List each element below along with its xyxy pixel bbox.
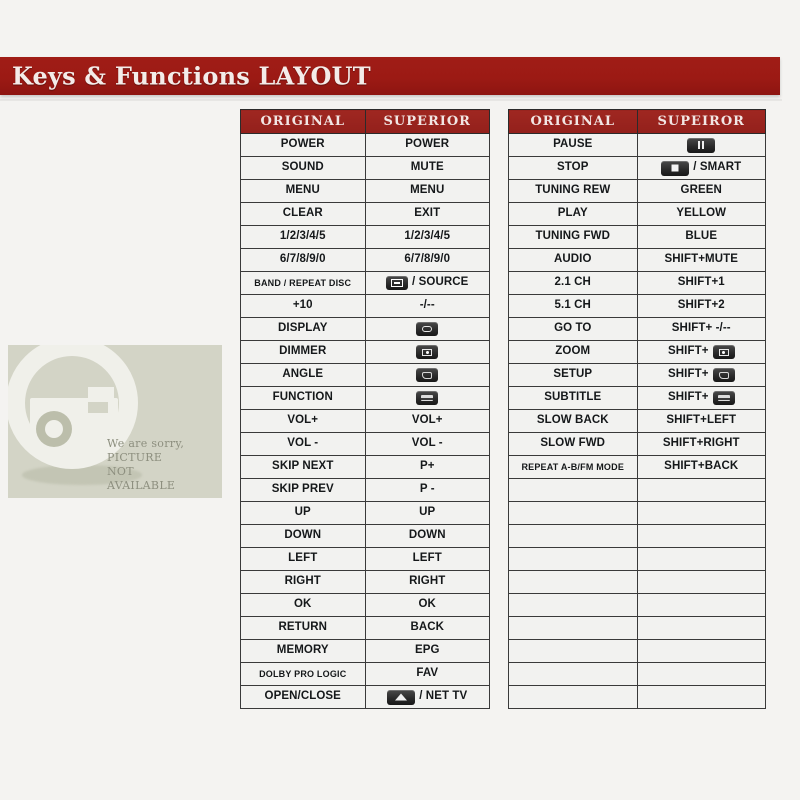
cell-superior-label: / SOURCE [412, 277, 468, 289]
cell-superior: BACK [365, 617, 490, 640]
column-header-original: ORIGINAL [241, 110, 366, 134]
cell-superior: EPG [365, 640, 490, 663]
cell-superior [365, 387, 490, 410]
cell-original-empty [509, 479, 638, 502]
table-row: REPEAT A-B/FM MODESHIFT+BACK [509, 456, 766, 479]
camera-lens-inner-icon [45, 420, 63, 438]
cell-superior-label: / NET TV [419, 691, 467, 703]
cell-content: SHIFT+ [640, 341, 764, 363]
cell-superior: P+ [365, 456, 490, 479]
cell-content: / SMART [640, 157, 764, 179]
cell-superior-label: SHIFT+ [668, 369, 709, 381]
eject-button-icon [387, 690, 415, 705]
cell-superior: VOL - [365, 433, 490, 456]
cell-original: MEMORY [241, 640, 366, 663]
cell-content: / NET TV [368, 686, 488, 708]
cell-content [368, 318, 488, 340]
cell-original: GO TO [509, 318, 638, 341]
cell-original: UP [241, 502, 366, 525]
cell-original: PAUSE [509, 134, 638, 157]
cell-original-empty [509, 502, 638, 525]
cell-superior: SHIFT+ -/-- [637, 318, 766, 341]
table-row [509, 479, 766, 502]
placeholder-line-4: AVAILABLE [107, 479, 217, 493]
table-row: OKOK [241, 594, 490, 617]
cell-superior: SHIFT+1 [637, 272, 766, 295]
dimmer-glyph-icon [719, 349, 729, 356]
cell-superior: MENU [365, 180, 490, 203]
source-button-icon [386, 276, 408, 290]
dimmer-glyph-icon [422, 349, 432, 356]
cell-original-empty [509, 525, 638, 548]
cell-original: ANGLE [241, 364, 366, 387]
cell-original: 6/7/8/9/0 [241, 249, 366, 272]
column-header-superior: SUPEIROR [637, 110, 766, 134]
cell-original: VOL - [241, 433, 366, 456]
page-title: Keys & Functions LAYOUT [12, 62, 371, 91]
cell-content: / SOURCE [368, 272, 488, 294]
table-row: SKIP NEXTP+ [241, 456, 490, 479]
cell-superior: GREEN [637, 180, 766, 203]
table-header-row: ORIGINALSUPERIOR [241, 110, 490, 134]
table-row: DOWNDOWN [241, 525, 490, 548]
cell-superior: SHIFT+2 [637, 295, 766, 318]
table-row: RETURNBACK [241, 617, 490, 640]
cell-superior: MUTE [365, 157, 490, 180]
table-row: MEMORYEPG [241, 640, 490, 663]
cell-superior: SHIFT+MUTE [637, 249, 766, 272]
cell-original: CLEAR [241, 203, 366, 226]
table-row: LEFTLEFT [241, 548, 490, 571]
cell-original: TUNING FWD [509, 226, 638, 249]
table-row: SETUPSHIFT+ [509, 364, 766, 387]
table-row: SUBTITLESHIFT+ [509, 387, 766, 410]
cell-original: +10 [241, 295, 366, 318]
cell-superior-empty [637, 594, 766, 617]
display-button-icon [416, 322, 438, 336]
function-button-icon [416, 391, 438, 405]
table-row: TUNING FWDBLUE [509, 226, 766, 249]
table-row: TUNING REWGREEN [509, 180, 766, 203]
table-row [509, 525, 766, 548]
display-glyph-icon [422, 326, 432, 332]
table-row: BAND / REPEAT DISC/ SOURCE [241, 272, 490, 295]
pause-button-icon [687, 138, 715, 153]
cell-original: OPEN/CLOSE [241, 686, 366, 709]
cell-original: VOL+ [241, 410, 366, 433]
table-row: SKIP PREVP - [241, 479, 490, 502]
cell-original-empty [509, 640, 638, 663]
cell-original: BAND / REPEAT DISC [241, 272, 366, 295]
table-row [509, 548, 766, 571]
cell-original: SUBTITLE [509, 387, 638, 410]
cell-content [368, 387, 488, 409]
cell-superior: -/-- [365, 295, 490, 318]
table-row: DOLBY PRO LOGICFAV [241, 663, 490, 686]
cell-original: SLOW FWD [509, 433, 638, 456]
cell-original: OK [241, 594, 366, 617]
cell-superior: SHIFT+BACK [637, 456, 766, 479]
cell-superior: DOWN [365, 525, 490, 548]
image-placeholder: We are sorry, PICTURE NOT AVAILABLE [8, 345, 222, 498]
keys-table-left: ORIGINALSUPERIORPOWERPOWERSOUNDMUTEMENUM… [240, 109, 490, 709]
cell-content: SHIFT+ [640, 364, 764, 386]
cell-original: 2.1 CH [509, 272, 638, 295]
angle-button-icon [713, 368, 735, 382]
header-banner: Keys & Functions LAYOUT [0, 57, 780, 95]
table-row [509, 571, 766, 594]
cell-superior: BLUE [637, 226, 766, 249]
cell-original: SKIP NEXT [241, 456, 366, 479]
cell-superior-empty [637, 548, 766, 571]
table-row: VOL -VOL - [241, 433, 490, 456]
table-row: OPEN/CLOSE/ NET TV [241, 686, 490, 709]
cell-superior: P - [365, 479, 490, 502]
cell-original: DIMMER [241, 341, 366, 364]
function-glyph-icon [421, 395, 433, 401]
table-row: AUDIOSHIFT+MUTE [509, 249, 766, 272]
cell-superior: YELLOW [637, 203, 766, 226]
cell-original: DOLBY PRO LOGIC [241, 663, 366, 686]
cell-original-empty [509, 571, 638, 594]
table-header-row: ORIGINALSUPEIROR [509, 110, 766, 134]
stop-button-icon [661, 161, 689, 176]
stop-glyph-icon [672, 165, 679, 172]
table-row [509, 617, 766, 640]
angle-glyph-icon [719, 372, 729, 379]
cell-superior: 1/2/3/4/5 [365, 226, 490, 249]
cell-original: SOUND [241, 157, 366, 180]
table-row [509, 663, 766, 686]
camera-flash-icon [88, 387, 114, 400]
column-header-superior: SUPERIOR [365, 110, 490, 134]
cell-original: AUDIO [509, 249, 638, 272]
cell-original: RETURN [241, 617, 366, 640]
cell-superior: UP [365, 502, 490, 525]
cell-original: REPEAT A-B/FM MODE [509, 456, 638, 479]
cell-superior: / SOURCE [365, 272, 490, 295]
placeholder-line-3: NOT [107, 465, 217, 479]
source-glyph-icon [391, 279, 403, 287]
cell-superior: VOL+ [365, 410, 490, 433]
table-row: UPUP [241, 502, 490, 525]
cell-superior: OK [365, 594, 490, 617]
cell-superior-empty [637, 571, 766, 594]
eject-glyph-icon [395, 694, 407, 701]
cell-original: 5.1 CH [509, 295, 638, 318]
function-button-icon [713, 391, 735, 405]
cell-original: SETUP [509, 364, 638, 387]
cell-original: POWER [241, 134, 366, 157]
table-row: SLOW BACKSHIFT+LEFT [509, 410, 766, 433]
angle-glyph-icon [422, 372, 432, 379]
table-row [509, 594, 766, 617]
cell-superior-empty [637, 617, 766, 640]
table-row: DIMMER [241, 341, 490, 364]
cell-original: MENU [241, 180, 366, 203]
table-row: VOL+VOL+ [241, 410, 490, 433]
table-row: MENUMENU [241, 180, 490, 203]
table-row: 2.1 CHSHIFT+1 [509, 272, 766, 295]
cell-superior-label: / SMART [693, 162, 741, 174]
cell-superior-label: SHIFT+ [668, 346, 709, 358]
function-glyph-icon [718, 395, 730, 401]
table-row: SOUNDMUTE [241, 157, 490, 180]
cell-content [368, 341, 488, 363]
table-row: ANGLE [241, 364, 490, 387]
placeholder-message: We are sorry, PICTURE NOT AVAILABLE [107, 437, 217, 493]
placeholder-line-1: We are sorry, [107, 437, 217, 451]
table-row: GO TOSHIFT+ -/-- [509, 318, 766, 341]
cell-superior-empty [637, 502, 766, 525]
cell-superior: POWER [365, 134, 490, 157]
cell-superior [365, 318, 490, 341]
cell-original: PLAY [509, 203, 638, 226]
table-row: 6/7/8/9/06/7/8/9/0 [241, 249, 490, 272]
cell-content [640, 134, 764, 156]
cell-original-empty [509, 686, 638, 709]
cell-superior: EXIT [365, 203, 490, 226]
table-row [509, 640, 766, 663]
table-row: PLAYYELLOW [509, 203, 766, 226]
cell-superior: SHIFT+LEFT [637, 410, 766, 433]
table-row [509, 502, 766, 525]
cell-superior: / NET TV [365, 686, 490, 709]
cell-superior-empty [637, 640, 766, 663]
table-row: DISPLAY [241, 318, 490, 341]
cell-original: STOP [509, 157, 638, 180]
pause-glyph-icon [698, 141, 704, 149]
cell-superior-label: SHIFT+ [668, 392, 709, 404]
cell-content: SHIFT+ [640, 387, 764, 409]
table-row: +10-/-- [241, 295, 490, 318]
cell-superior [365, 364, 490, 387]
angle-button-icon [416, 368, 438, 382]
cell-superior: SHIFT+RIGHT [637, 433, 766, 456]
cell-original: ZOOM [509, 341, 638, 364]
table-row: SLOW FWDSHIFT+RIGHT [509, 433, 766, 456]
table-row: POWERPOWER [241, 134, 490, 157]
cell-superior: / SMART [637, 157, 766, 180]
cell-original-empty [509, 663, 638, 686]
table-row: STOP/ SMART [509, 157, 766, 180]
dimmer-button-icon [416, 345, 438, 359]
column-header-original: ORIGINAL [509, 110, 638, 134]
cell-superior: SHIFT+ [637, 387, 766, 410]
cell-original: 1/2/3/4/5 [241, 226, 366, 249]
table-row: FUNCTION [241, 387, 490, 410]
cell-original-empty [509, 617, 638, 640]
header-divider [0, 99, 782, 101]
cell-superior [637, 134, 766, 157]
cell-superior: SHIFT+ [637, 364, 766, 387]
cell-superior-empty [637, 479, 766, 502]
placeholder-line-2: PICTURE [107, 451, 217, 465]
cell-superior: FAV [365, 663, 490, 686]
keys-table-right: ORIGINALSUPEIRORPAUSESTOP/ SMARTTUNING R… [508, 109, 766, 709]
cell-original: DISPLAY [241, 318, 366, 341]
table-row: PAUSE [509, 134, 766, 157]
cell-superior-empty [637, 686, 766, 709]
table-row: CLEAREXIT [241, 203, 490, 226]
cell-original: TUNING REW [509, 180, 638, 203]
cell-superior: 6/7/8/9/0 [365, 249, 490, 272]
cell-original-empty [509, 548, 638, 571]
table-row: ZOOMSHIFT+ [509, 341, 766, 364]
cell-superior-empty [637, 525, 766, 548]
cell-original: FUNCTION [241, 387, 366, 410]
cell-superior [365, 341, 490, 364]
cell-original: SLOW BACK [509, 410, 638, 433]
cell-original: RIGHT [241, 571, 366, 594]
table-row [509, 686, 766, 709]
cell-original: DOWN [241, 525, 366, 548]
cell-original: LEFT [241, 548, 366, 571]
cell-superior: RIGHT [365, 571, 490, 594]
cell-content [368, 364, 488, 386]
cell-original: SKIP PREV [241, 479, 366, 502]
cell-superior: LEFT [365, 548, 490, 571]
dimmer-button-icon [713, 345, 735, 359]
table-row: 1/2/3/4/51/2/3/4/5 [241, 226, 490, 249]
cell-superior: SHIFT+ [637, 341, 766, 364]
cell-superior-empty [637, 663, 766, 686]
table-row: 5.1 CHSHIFT+2 [509, 295, 766, 318]
cell-original-empty [509, 594, 638, 617]
table-row: RIGHTRIGHT [241, 571, 490, 594]
camera-notch-icon [88, 402, 108, 413]
